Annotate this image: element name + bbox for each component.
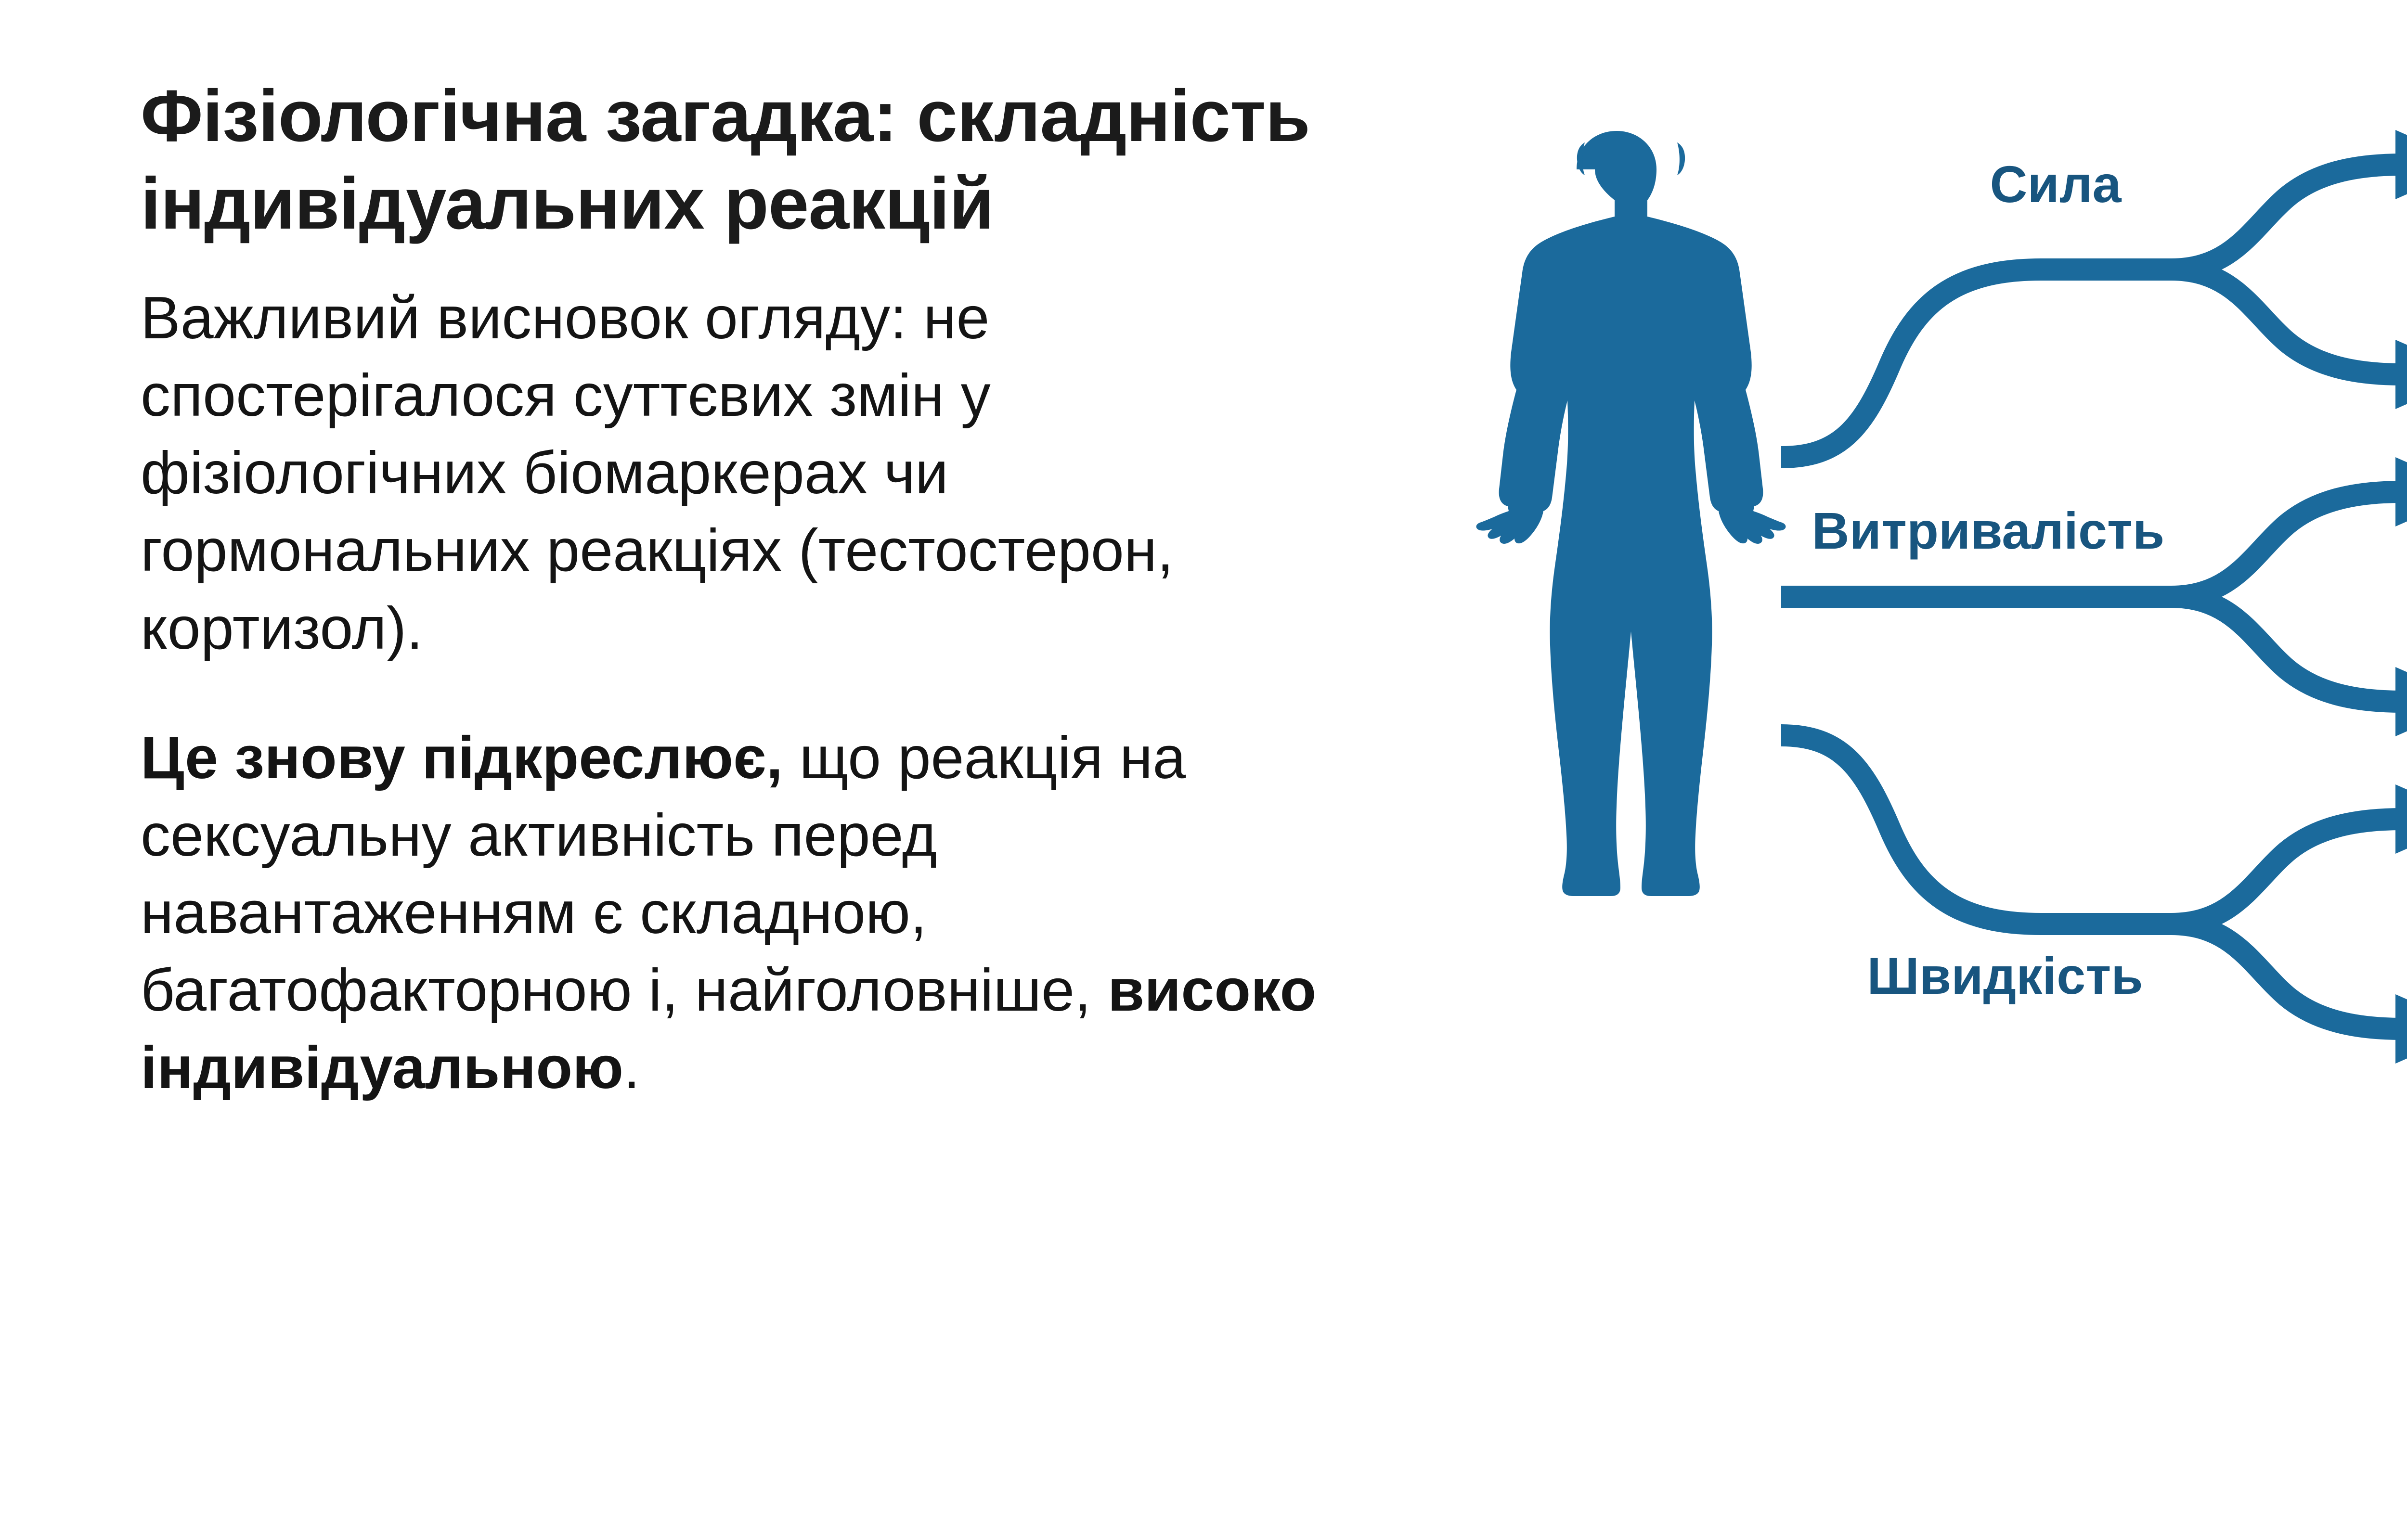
- outcomes-diagram: Сила Витривалість: [1415, 58, 2407, 1482]
- branch-strength-arrowhead-lower: [2395, 340, 2407, 409]
- branch-strength-trunk: [1781, 269, 2181, 457]
- slide-canvas: Фізіологічна загадка: складність індивід…: [0, 0, 2407, 1540]
- branch-endurance-arrow-upper-shaft: [2171, 492, 2402, 597]
- branch-label-strength: Сила: [1990, 155, 2122, 213]
- branch-speed-arrow-upper-shaft: [2171, 819, 2402, 924]
- text-column: Фізіологічна загадка: складність індивід…: [141, 72, 1402, 1107]
- human-body-silhouette: [1476, 131, 1786, 896]
- branch-endurance: Витривалість: [1781, 431, 2407, 736]
- page-title: Фізіологічна загадка: складність індивід…: [141, 72, 1373, 248]
- paragraph-conclusion-bold-lead: Це знову підкреслює,: [141, 725, 783, 791]
- paragraph-conclusion: Це знову підкреслює, що реакція на сексу…: [141, 719, 1320, 1107]
- branch-strength-arrowhead-upper: [2395, 130, 2407, 199]
- branch-endurance-arrow-lower-shaft: [2171, 597, 2402, 702]
- branch-label-speed: Швидкість: [1867, 947, 2143, 1005]
- branch-speed: Швидкість: [1781, 735, 2407, 1064]
- branch-endurance-arrowhead-upper: [2395, 457, 2407, 526]
- branch-strength-arrow-lower-shaft: [2171, 269, 2402, 374]
- branch-strength-arrow-upper-shaft: [2171, 165, 2402, 269]
- paragraph-key-finding: Важливий висновок огляду: не спостерігал…: [141, 280, 1320, 667]
- branch-speed-arrowhead-lower: [2395, 994, 2407, 1064]
- branch-strength: Сила: [1781, 106, 2407, 457]
- branch-speed-trunk: [1781, 735, 2181, 924]
- branch-label-endurance: Витривалість: [1812, 501, 2165, 560]
- paragraph-conclusion-period: .: [623, 1035, 640, 1101]
- branch-endurance-arrowhead-lower: [2395, 667, 2407, 736]
- branch-speed-arrow-lower-shaft: [2171, 924, 2402, 1029]
- branch-speed-arrowhead-upper: [2395, 784, 2407, 854]
